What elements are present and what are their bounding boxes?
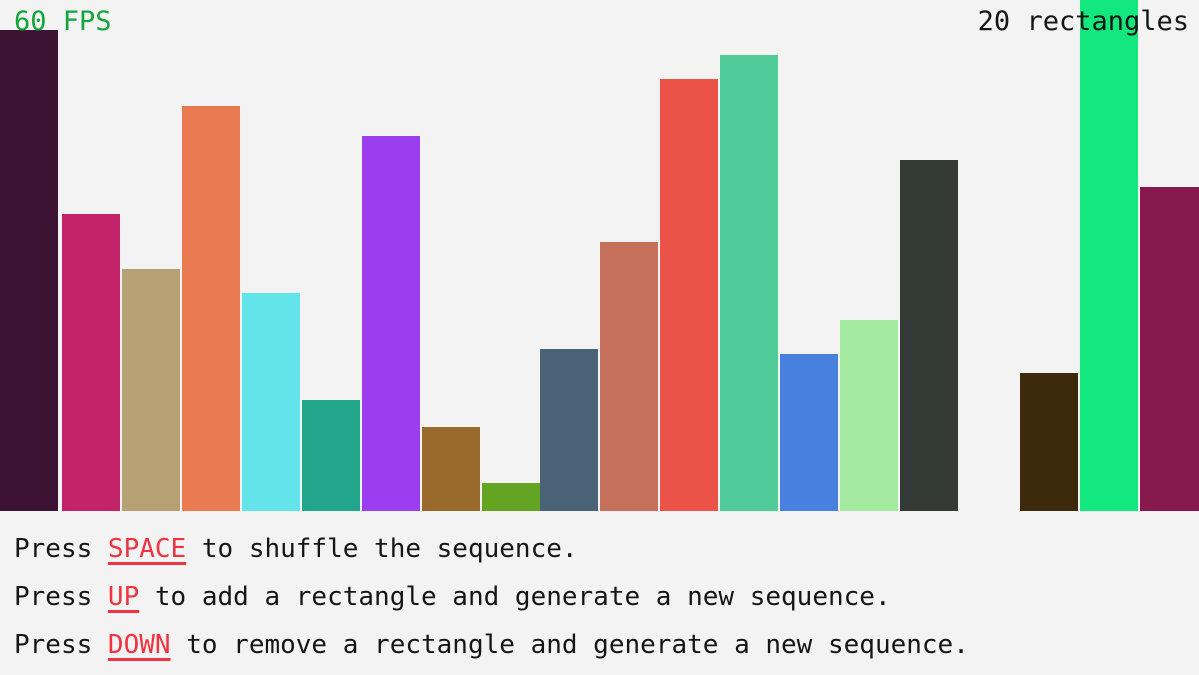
bar-8-brown-ochre xyxy=(422,427,480,511)
bar-2-magenta xyxy=(62,214,120,511)
key-space[interactable]: SPACE xyxy=(108,534,186,564)
instruction-suffix: to shuffle the sequence. xyxy=(186,534,577,564)
instruction-line-2: Press UP to add a rectangle and generate… xyxy=(14,573,1199,621)
key-up[interactable]: UP xyxy=(108,582,139,612)
bar-17-charcoal xyxy=(900,160,958,511)
bar-3-tan xyxy=(122,269,180,511)
bar-5-cyan xyxy=(242,293,300,511)
bar-20-bright-green xyxy=(1080,0,1138,511)
bar-1-dark-plum xyxy=(0,30,58,511)
bar-4-orange xyxy=(182,106,240,511)
instruction-prefix: Press xyxy=(14,582,108,612)
bar-7-purple xyxy=(362,136,420,511)
app-canvas: 60 FPS 20 rectangles Press SPACE to shuf… xyxy=(0,0,1199,675)
bar-19-dark-brown xyxy=(1020,373,1078,511)
bar-15-royal-blue-short xyxy=(780,453,838,511)
fps-counter: 60 FPS xyxy=(14,6,112,37)
bar-6-teal xyxy=(302,400,360,511)
instruction-line-1: Press SPACE to shuffle the sequence. xyxy=(14,525,1199,573)
key-down[interactable]: DOWN xyxy=(108,630,171,660)
rectangle-count-label: 20 rectangles xyxy=(978,6,1189,37)
instruction-line-3: Press DOWN to remove a rectangle and gen… xyxy=(14,621,1199,669)
bar-11-salmon-brown xyxy=(600,242,658,511)
bar-chart xyxy=(0,0,1199,511)
bar-9-olive-green xyxy=(482,483,540,511)
bar-21-maroon xyxy=(1140,187,1199,511)
instructions-panel: Press SPACE to shuffle the sequence.Pres… xyxy=(0,511,1199,675)
instruction-prefix: Press xyxy=(14,534,108,564)
bar-16-light-green xyxy=(840,320,898,511)
instruction-prefix: Press xyxy=(14,630,108,660)
bar-13-mint-green xyxy=(720,55,778,511)
instruction-suffix: to add a rectangle and generate a new se… xyxy=(139,582,890,612)
instruction-suffix: to remove a rectangle and generate a new… xyxy=(171,630,969,660)
bar-12-red xyxy=(660,79,718,511)
bar-10-slate-blue xyxy=(540,349,598,511)
